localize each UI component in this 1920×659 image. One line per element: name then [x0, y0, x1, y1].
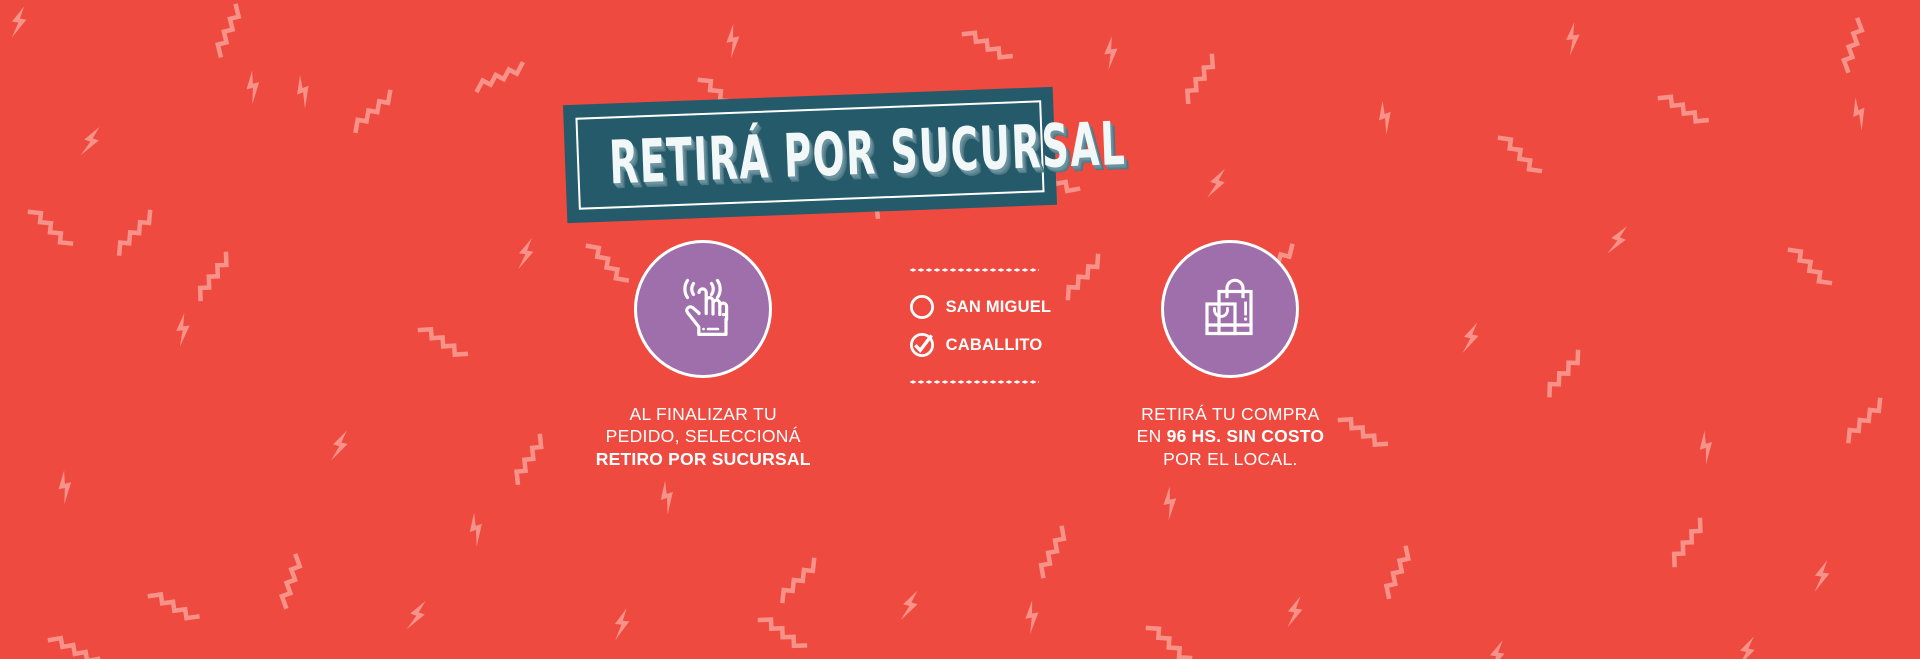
- checklist-label-san-miguel: SAN MIGUEL: [946, 298, 1052, 317]
- title-plaque: RETIRÁ POR SUCURSAL: [563, 87, 1057, 223]
- shopping-bags-badge: [1161, 240, 1299, 378]
- caption-line-2: PEDIDO, SELECCIONÁ: [596, 425, 811, 447]
- hand-tap-icon: [666, 272, 740, 346]
- branch-checklist: SAN MIGUEL CABALLITO: [869, 268, 1079, 384]
- checklist-item-caballito[interactable]: CABALLITO: [909, 332, 1039, 358]
- caption-line-2-prefix: EN: [1137, 426, 1167, 446]
- column-select-pickup: AL FINALIZAR TU PEDIDO, SELECCIONÁ RETIR…: [596, 240, 811, 470]
- caption-line-3-bold: RETIRO POR SUCURSAL: [596, 448, 811, 470]
- caption-line-3: POR EL LOCAL.: [1137, 448, 1325, 470]
- caption-select-pickup: AL FINALIZAR TU PEDIDO, SELECCIONÁ RETIR…: [596, 403, 811, 470]
- column-pickup-time: RETIRÁ TU COMPRA EN 96 HS. SIN COSTO POR…: [1137, 240, 1325, 470]
- caption-line-1: AL FINALIZAR TU: [596, 403, 811, 425]
- caption-line-2: EN 96 HS. SIN COSTO: [1137, 425, 1325, 447]
- caption-line-2-bold: 96 HS. SIN COSTO: [1167, 426, 1325, 446]
- shopping-bags-icon: [1193, 272, 1267, 346]
- dotted-divider-bottom: [909, 380, 1039, 384]
- dotted-divider-top: [909, 268, 1039, 272]
- checklist-item-san-miguel[interactable]: SAN MIGUEL: [909, 294, 1039, 320]
- circle-empty-icon[interactable]: [909, 294, 935, 320]
- hand-tap-badge: [634, 240, 772, 378]
- promo-banner: RETIRÁ POR SUCURSAL: [0, 0, 1920, 659]
- content-columns: AL FINALIZAR TU PEDIDO, SELECCIONÁ RETIR…: [0, 240, 1920, 470]
- caption-pickup-time: RETIRÁ TU COMPRA EN 96 HS. SIN COSTO POR…: [1137, 403, 1325, 470]
- caption-line-1: RETIRÁ TU COMPRA: [1137, 403, 1325, 425]
- circle-check-icon[interactable]: [909, 332, 935, 358]
- checklist-label-caballito: CABALLITO: [946, 336, 1043, 355]
